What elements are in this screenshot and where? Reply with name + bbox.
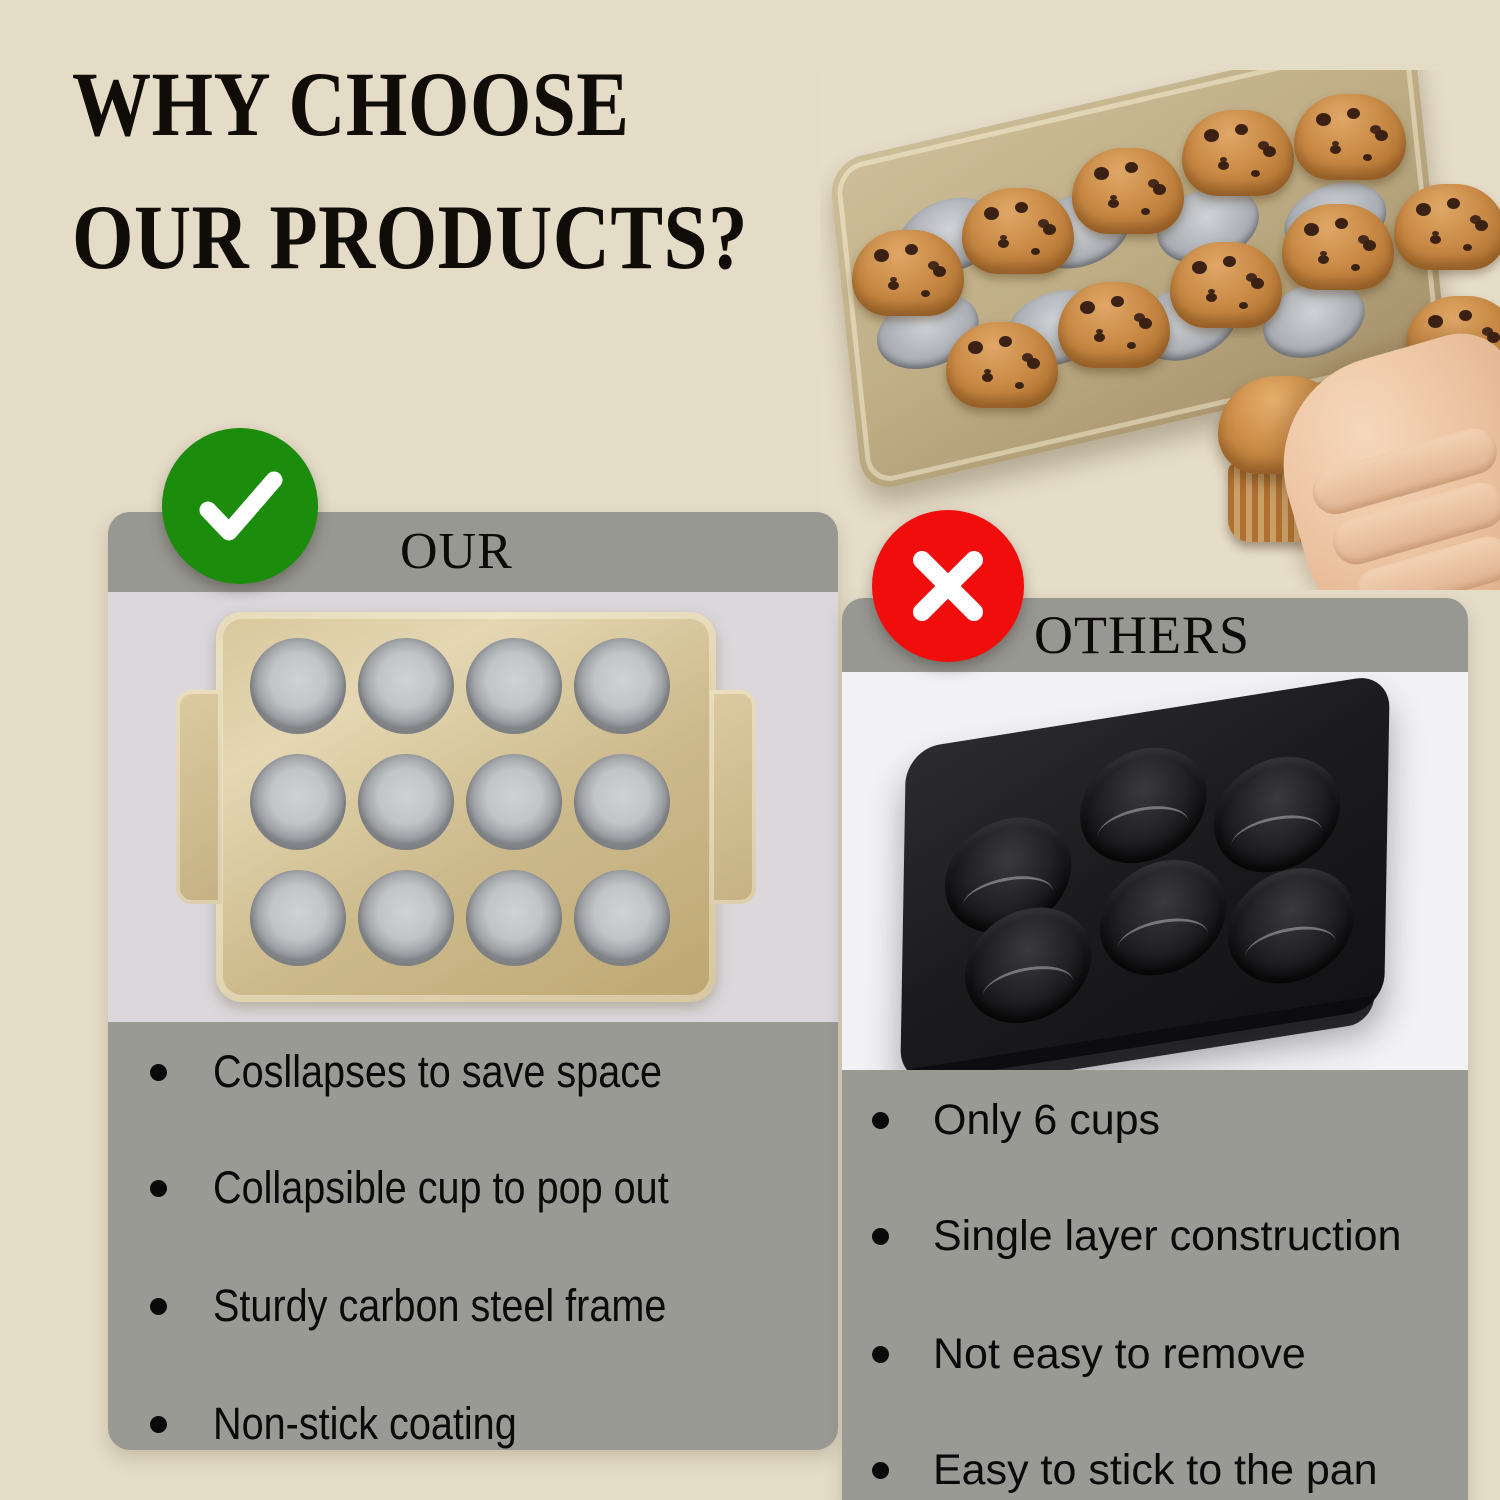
card-photo-our (108, 592, 838, 1022)
black-muffin-pan (900, 673, 1390, 1070)
bullet-icon (150, 1064, 167, 1081)
list-item: Sturdy carbon steel frame (150, 1280, 728, 1332)
list-item-label: Collapsible cup to pop out (213, 1162, 669, 1214)
x-circle-icon (872, 510, 1024, 662)
pan-cup (466, 870, 562, 966)
bullet-icon (150, 1180, 167, 1197)
hero-muffin (1394, 184, 1500, 270)
bullet-icon (872, 1462, 889, 1479)
headline-line-1: WHY CHOOSE (72, 53, 629, 155)
hero-muffin (1058, 282, 1170, 368)
list-item-label: Only 6 cups (933, 1096, 1160, 1145)
pan-cup (574, 870, 670, 966)
comparison-card-our: OUR Cosllapses t (108, 512, 838, 1450)
pan-cup (1213, 748, 1341, 882)
pan-handle-right (710, 690, 756, 904)
feature-list-others: Only 6 cups Single layer construction No… (842, 1070, 1468, 1500)
hero-muffin (852, 230, 964, 316)
pan-cup (358, 870, 454, 966)
pan-handle-left (176, 690, 222, 904)
list-item-label: Non-stick coating (213, 1398, 517, 1450)
feature-list-our: Cosllapses to save space Collapsible cup… (108, 1022, 838, 1450)
comparison-card-others: OTHERS Only 6 cups Single layer construc… (842, 598, 1468, 1500)
pan-cup (358, 754, 454, 850)
bullet-icon (150, 1298, 167, 1315)
list-item-label: Sturdy carbon steel frame (213, 1280, 666, 1332)
hero-muffin-tray-photo (820, 70, 1500, 590)
hero-muffin (946, 322, 1058, 408)
hero-muffin (962, 188, 1074, 274)
list-item: Cosllapses to save space (150, 1046, 723, 1098)
hero-muffin (1072, 148, 1184, 234)
pan-cup (466, 638, 562, 734)
list-item-label: Single layer construction (933, 1212, 1401, 1261)
pan-cup (1099, 851, 1227, 985)
card-photo-others (842, 672, 1468, 1070)
pan-cup (574, 638, 670, 734)
list-item: Not easy to remove (872, 1330, 1306, 1379)
infographic-canvas: WHY CHOOSE OUR PRODUCTS? (0, 0, 1500, 1500)
pan-cup (358, 638, 454, 734)
headline-line-2: OUR PRODUCTS? (72, 171, 777, 304)
list-item: Easy to stick to the pan (872, 1446, 1378, 1495)
hero-muffin (1282, 204, 1394, 290)
bullet-icon (150, 1416, 167, 1433)
list-item: Single layer construction (872, 1212, 1401, 1261)
list-item-label: Easy to stick to the pan (933, 1446, 1378, 1495)
bullet-icon (872, 1228, 889, 1245)
hero-muffin (1294, 94, 1406, 180)
card-title-our: OUR (400, 526, 513, 578)
pan-cup (574, 754, 670, 850)
check-circle-icon (162, 428, 318, 584)
pan-cup (250, 870, 346, 966)
list-item: Non-stick coating (150, 1398, 558, 1450)
hero-muffin (1182, 110, 1294, 196)
bullet-icon (872, 1346, 889, 1363)
pan-cup (250, 754, 346, 850)
gold-muffin-pan (216, 612, 716, 1002)
list-item-label: Not easy to remove (933, 1330, 1306, 1379)
pan-cup (1079, 738, 1207, 872)
bullet-icon (872, 1112, 889, 1129)
list-item: Collapsible cup to pop out (150, 1162, 731, 1214)
list-item: Only 6 cups (872, 1096, 1160, 1145)
hero-muffin (1170, 242, 1282, 328)
pan-cup (250, 638, 346, 734)
card-title-others: OTHERS (1034, 608, 1250, 662)
pan-cup (1227, 859, 1355, 993)
page-title: WHY CHOOSE OUR PRODUCTS? (72, 38, 777, 305)
pan-cup (466, 754, 562, 850)
list-item-label: Cosllapses to save space (213, 1046, 662, 1098)
